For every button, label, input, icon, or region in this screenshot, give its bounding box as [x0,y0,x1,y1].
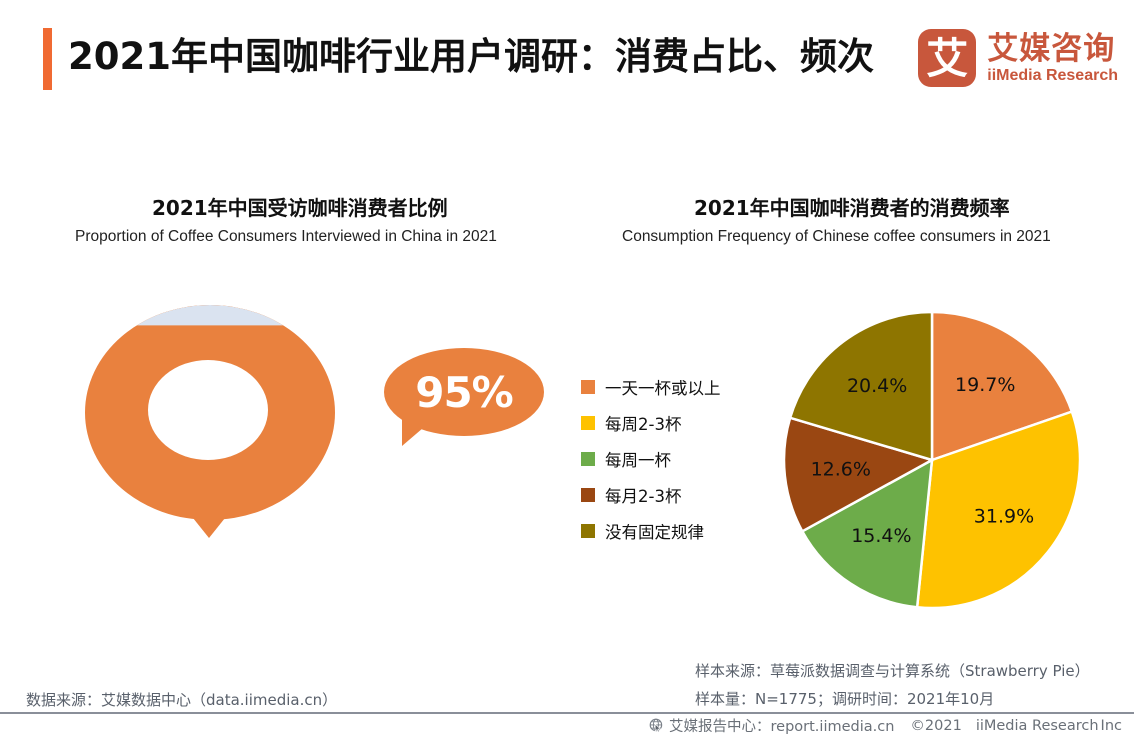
pie-slice-label: 19.7% [955,374,1015,396]
page-header: 2021年中国咖啡行业用户调研：消费占比、频次 艾 艾媒咨询 iiMedia R… [0,0,1134,118]
legend-swatch-icon [581,488,595,502]
legend-label: 没有固定规律 [605,519,704,543]
sample-source-note: 样本来源：草莓派数据调查与计算系统（Strawberry Pie） [695,660,1090,681]
legend-label: 每周2-3杯 [605,411,681,435]
proportion-donut-graphic [85,305,365,565]
legend-item[interactable]: 没有固定规律 [581,513,761,549]
left-chart-title-cn: 2021年中国受访咖啡消费者比例 [152,192,448,221]
legend-label: 一天一杯或以上 [605,375,721,399]
legend-swatch-icon [581,452,595,466]
consumption-frequency-pie-chart: 19.7%31.9%15.4%12.6%20.4% [782,310,1082,610]
right-chart-title-en: Consumption Frequency of Chinese coffee … [622,228,1051,246]
right-chart-title-cn: 2021年中国咖啡消费者的消费频率 [694,192,1010,221]
legend-label: 每周一杯 [605,447,671,471]
globe-cursor-icon [649,718,664,733]
footer-report-center[interactable]: 艾媒报告中心：report.iimedia.cn [669,715,894,736]
pie-svg: 19.7%31.9%15.4%12.6%20.4% [782,310,1082,610]
pie-chart-legend: 一天一杯或以上每周2-3杯每周一杯每月2-3杯没有固定规律 [581,369,761,549]
legend-item[interactable]: 一天一杯或以上 [581,369,761,405]
pie-slice-label: 15.4% [851,525,911,547]
legend-item[interactable]: 每月2-3杯 [581,477,761,513]
brand-logo: 艾 艾媒咨询 iiMedia Research [918,25,1118,91]
highlight-percentage-value: 95% [384,348,544,436]
page-footer: 艾媒报告中心：report.iimedia.cn ©2021 iiMedia R… [0,714,1134,737]
logo-name-en: iiMedia Research [987,66,1118,85]
pie-slice-label: 20.4% [847,375,907,397]
donut-ring [85,305,335,520]
legend-swatch-icon [581,416,595,430]
legend-item[interactable]: 每周2-3杯 [581,405,761,441]
page-title: 2021年中国咖啡行业用户调研：消费占比、频次 [68,26,874,88]
data-source-note: 数据来源：艾媒数据中心（data.iimedia.cn） [26,689,337,710]
left-chart-title-en: Proportion of Coffee Consumers Interview… [75,228,497,246]
legend-swatch-icon [581,524,595,538]
highlight-speech-bubble: 95% [384,348,544,448]
donut-pin-tail [173,493,245,538]
legend-item[interactable]: 每周一杯 [581,441,761,477]
legend-swatch-icon [581,380,595,394]
pie-slice-label: 12.6% [811,458,871,480]
footer-copyright: ©2021 [910,718,961,734]
donut-hole [148,360,268,460]
legend-label: 每月2-3杯 [605,483,681,507]
logo-mark-glyph: 艾 [926,38,968,80]
pie-slice-label: 31.9% [974,505,1034,527]
sample-size-note: 样本量：N=1775；调研时间：2021年10月 [695,688,994,709]
logo-wordmark: 艾媒咨询 iiMedia Research [987,32,1118,85]
footer-company: iiMedia Research [976,718,1099,734]
title-accent-bar [43,28,52,90]
logo-mark-icon: 艾 [918,29,976,87]
footer-suffix: Inc [1101,718,1122,734]
logo-name-cn: 艾媒咨询 [987,32,1118,66]
